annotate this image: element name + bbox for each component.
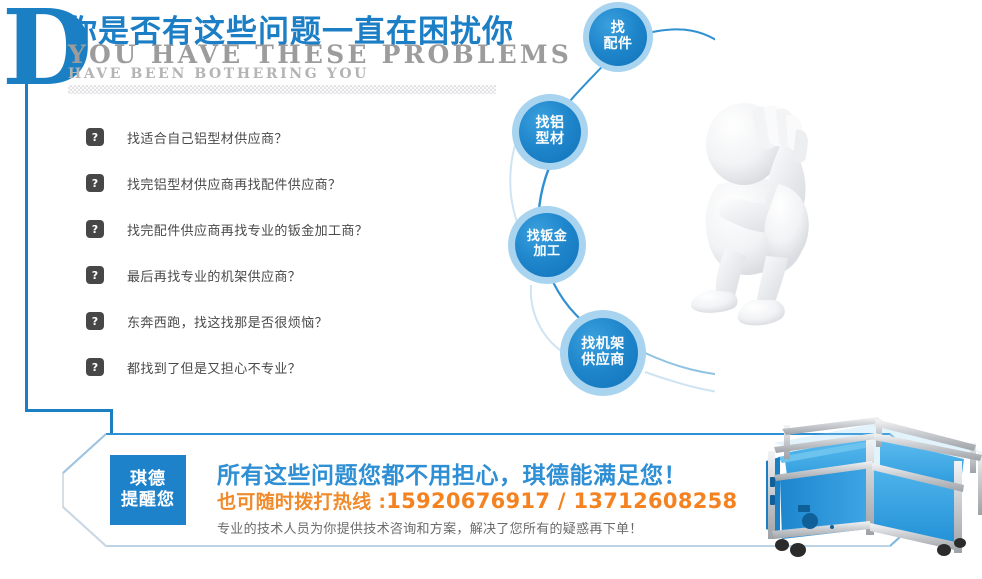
flow-bubble-label: 找钣金加工 bbox=[527, 230, 568, 259]
question-mark-icon: ? bbox=[86, 312, 104, 330]
brand-reminder-badge: 琪德 提醒您 bbox=[110, 455, 186, 525]
problem-list: ? 找适合自己铝型材供应商？ ? 找完铝型材供应商再找配件供应商？ ? 找完配件… bbox=[86, 128, 368, 404]
bottom-banner-panel: 琪德 提醒您 所有这些问题您都不用担心，琪德能满足您！ 也可随时拨打热线 :15… bbox=[62, 433, 934, 547]
page-subtitle-en-line2: HAVE BEEN BOTHERING YOU bbox=[68, 66, 369, 82]
question-mark-icon: ? bbox=[86, 220, 104, 238]
flow-bubble-label: 找铝型材 bbox=[536, 116, 565, 147]
frustrated-person-illustration bbox=[660, 88, 840, 338]
flow-bubble-1[interactable]: 找配件 bbox=[583, 2, 653, 72]
banner-subtext: 专业的技术人员为你提供技术咨询和方案，解决了您所有的疑惑再下单！ bbox=[217, 518, 643, 537]
list-item-label: 找完铝型材供应商再找配件供应商？ bbox=[127, 174, 341, 193]
list-item: ? 找完配件供应商再找专业的钣金加工商？ bbox=[86, 220, 368, 238]
connector-line-horizontal bbox=[25, 409, 113, 412]
question-mark-icon: ? bbox=[86, 358, 104, 376]
promo-banner-stage: D 你是否有这些问题一直在困扰你 YOU HAVE THESE PROBLEMS… bbox=[0, 0, 982, 579]
brand-reminder-text: 提醒您 bbox=[121, 490, 175, 511]
connector-line-vertical bbox=[25, 78, 28, 412]
hotline-label: 也可随时拨打热线 : bbox=[217, 491, 386, 513]
banner-hotline: 也可随时拨打热线 :15920676917 / 13712608258 bbox=[217, 487, 737, 514]
list-item: ? 最后再找专业的机架供应商？ bbox=[86, 266, 368, 284]
banner-headline: 所有这些问题您都不用担心，琪德能满足您！ bbox=[217, 456, 687, 490]
question-mark-icon: ? bbox=[86, 174, 104, 192]
list-item: ? 东奔西跑，找这找那是否很烦恼？ bbox=[86, 312, 368, 330]
list-item-label: 找完配件供应商再找专业的钣金加工商？ bbox=[127, 220, 368, 239]
question-mark-icon: ? bbox=[86, 128, 104, 146]
hatched-divider bbox=[68, 85, 496, 94]
list-item-label: 找适合自己铝型材供应商？ bbox=[127, 128, 288, 147]
list-item-label: 东奔西跑，找这找那是否很烦恼？ bbox=[127, 312, 328, 331]
workbench-product-image bbox=[748, 417, 982, 557]
flow-bubble-4[interactable]: 找机架供应商 bbox=[560, 310, 646, 396]
flow-bubble-2[interactable]: 找铝型材 bbox=[512, 94, 588, 170]
list-item: ? 找完铝型材供应商再找配件供应商？ bbox=[86, 174, 368, 192]
list-item-label: 都找到了但是又担心不专业？ bbox=[127, 358, 301, 377]
flow-bubble-3[interactable]: 找钣金加工 bbox=[508, 206, 586, 284]
flow-bubble-label: 找机架供应商 bbox=[581, 337, 625, 368]
hotline-numbers[interactable]: 15920676917 / 13712608258 bbox=[386, 489, 737, 513]
list-item-label: 最后再找专业的机架供应商？ bbox=[127, 266, 301, 285]
flow-bubble-label: 找配件 bbox=[604, 21, 633, 52]
question-mark-icon: ? bbox=[86, 266, 104, 284]
brand-name: 琪德 bbox=[130, 469, 166, 490]
list-item: ? 都找到了但是又担心不专业？ bbox=[86, 358, 368, 376]
list-item: ? 找适合自己铝型材供应商？ bbox=[86, 128, 368, 146]
